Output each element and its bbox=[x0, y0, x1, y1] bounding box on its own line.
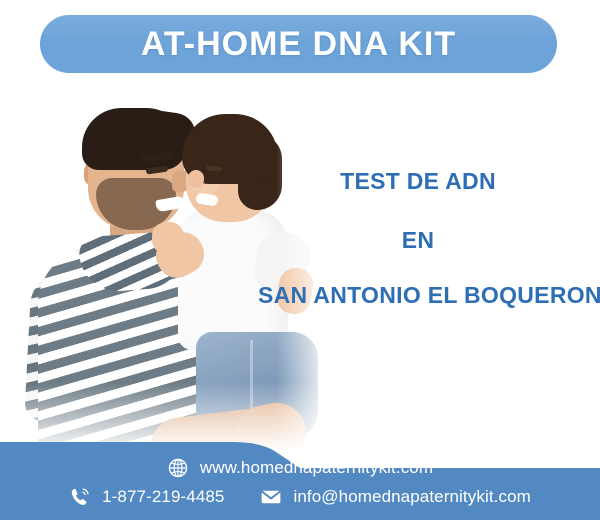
page-title: AT-HOME DNA KIT bbox=[141, 25, 456, 64]
headline-block: TEST DE ADN EN SAN ANTONIO EL BOQUERON bbox=[236, 160, 600, 320]
phone-icon bbox=[69, 486, 91, 508]
child-hand bbox=[152, 222, 184, 254]
headline-line-2: EN bbox=[236, 227, 600, 254]
footer-email-group[interactable]: info@homednapaternitykit.com bbox=[260, 486, 530, 508]
footer-bar: www.homednapaternitykit.com 1-877-219-44… bbox=[0, 430, 600, 520]
poster-canvas: AT-HOME DNA KIT bbox=[0, 0, 600, 520]
child-nose bbox=[188, 170, 204, 188]
footer-website-text: www.homednapaternitykit.com bbox=[200, 458, 433, 478]
footer-phone-text: 1-877-219-4485 bbox=[102, 487, 224, 507]
footer-phone-group[interactable]: 1-877-219-4485 bbox=[69, 486, 224, 508]
footer-content: www.homednapaternitykit.com 1-877-219-44… bbox=[0, 430, 600, 520]
header-badge: AT-HOME DNA KIT bbox=[40, 15, 557, 73]
globe-icon bbox=[167, 457, 189, 479]
envelope-icon bbox=[260, 486, 282, 508]
footer-website-group[interactable]: www.homednapaternitykit.com bbox=[167, 457, 433, 479]
headline-line-3-location: SAN ANTONIO EL BOQUERON bbox=[258, 282, 600, 309]
headline-line-1: TEST DE ADN bbox=[236, 168, 600, 195]
footer-website-row: www.homednapaternitykit.com bbox=[0, 456, 600, 480]
footer-email-text: info@homednapaternitykit.com bbox=[293, 487, 530, 507]
footer-contact-row: 1-877-219-4485 info@homednapaternitykit.… bbox=[0, 484, 600, 510]
